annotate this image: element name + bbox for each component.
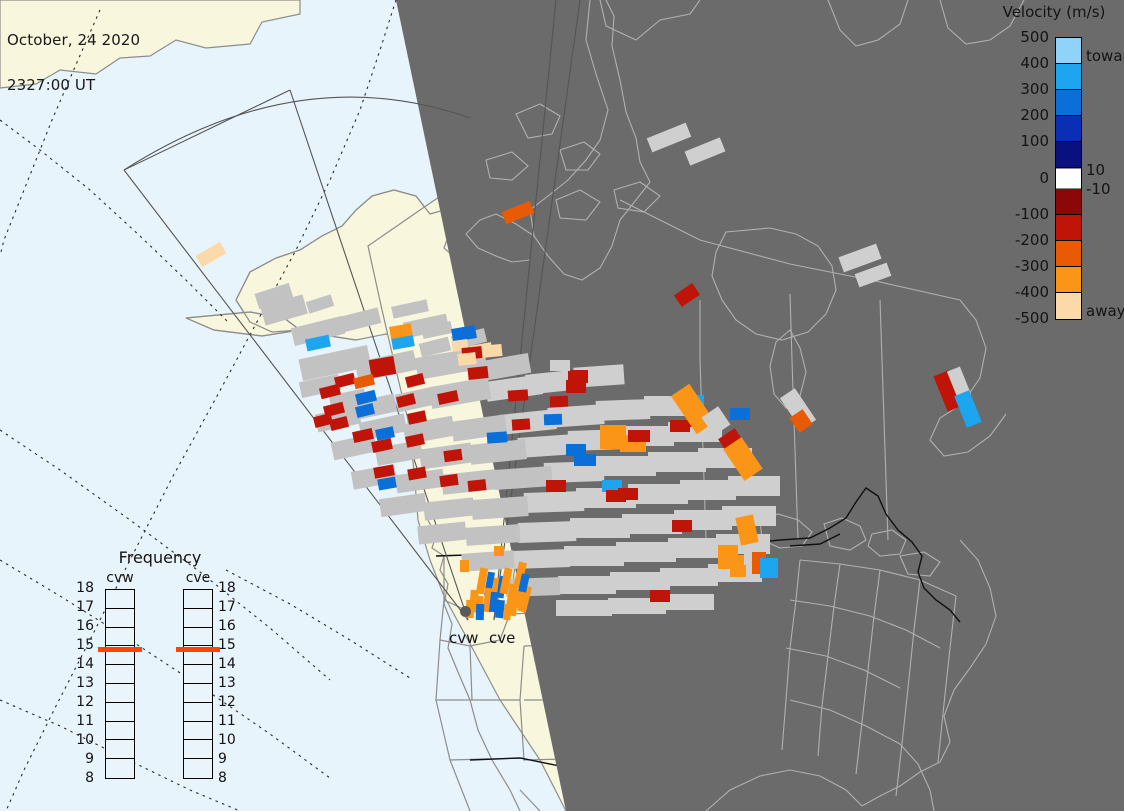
timestamp-block: October, 24 2020 2327:00 UT: [7, 3, 140, 123]
frequency-bar-cve[interactable]: [183, 589, 213, 779]
frequency-bar-cell: [184, 628, 212, 647]
frequency-column-name-cve: cve: [176, 570, 220, 586]
velocity-cell[interactable]: [606, 435, 630, 447]
velocity-cell[interactable]: [618, 488, 638, 500]
frequency-tick-14: 14: [218, 656, 236, 672]
velocity-cell[interactable]: [508, 389, 529, 401]
frequency-bar-cell: [184, 590, 212, 609]
frequency-tick-18: 18: [76, 580, 94, 596]
velocity-cell[interactable]: [574, 454, 596, 466]
ground-scatter-cell[interactable]: [668, 538, 726, 558]
colorbar-lower-threshold-label: -10: [1086, 180, 1111, 198]
frequency-tick-12: 12: [218, 694, 236, 710]
frequency-bar-cell: [106, 684, 134, 703]
velocity-cell[interactable]: [566, 380, 586, 393]
velocity-cell[interactable]: [550, 396, 568, 408]
colorbar-segment--400[interactable]: [1056, 267, 1081, 293]
colorbar-segment-200[interactable]: [1056, 116, 1081, 142]
colorbar-zero-gap: [1056, 168, 1081, 189]
colorbar-segment-300[interactable]: [1056, 90, 1081, 116]
ground-scatter-cell[interactable]: [680, 480, 736, 500]
ground-scatter-cell[interactable]: [524, 491, 585, 513]
ground-scatter-cell[interactable]: [610, 572, 670, 590]
colorbar-tick--200: -200: [1001, 231, 1049, 249]
map-canvas[interactable]: cvw cve: [0, 0, 1124, 811]
frequency-bar-cell: [184, 609, 212, 628]
frequency-tick-10: 10: [218, 732, 236, 748]
velocity-cell[interactable]: [546, 480, 566, 492]
frequency-bar-cell: [106, 759, 134, 778]
frequency-bar-cell: [184, 684, 212, 703]
frequency-tick-17: 17: [218, 599, 236, 615]
colorbar-tick-0: 0: [1001, 169, 1049, 187]
ground-scatter-cell[interactable]: [556, 600, 612, 616]
colorbar-tick-400: 400: [1001, 54, 1049, 72]
velocity-cell[interactable]: [467, 366, 488, 380]
velocity-colorbar[interactable]: [1055, 37, 1082, 320]
frequency-tick-18: 18: [218, 580, 236, 596]
velocity-cell[interactable]: [730, 408, 750, 420]
velocity-cell[interactable]: [672, 520, 692, 532]
colorbar-segment--100[interactable]: [1056, 189, 1081, 215]
velocity-cell[interactable]: [512, 418, 531, 430]
ground-scatter-cell[interactable]: [465, 524, 520, 546]
frequency-bar-cell: [106, 722, 134, 741]
frequency-tick-11: 11: [76, 713, 94, 729]
velocity-cell[interactable]: [457, 352, 476, 366]
ground-scatter-cell[interactable]: [570, 518, 630, 538]
velocity-cell[interactable]: [494, 546, 504, 556]
colorbar-tick-100: 100: [1001, 132, 1049, 150]
superdarn-map-figure: cvw cve October, 24 2020 2327:00 UT Velo…: [0, 0, 1124, 811]
ground-scatter-cell[interactable]: [648, 452, 706, 472]
colorbar-away-label: away: [1086, 302, 1124, 320]
frequency-tick-15: 15: [76, 637, 94, 653]
frequency-tick-16: 16: [76, 618, 94, 634]
velocity-cell[interactable]: [460, 560, 469, 572]
frequency-marker-cve: [176, 647, 220, 652]
frequency-bar-cell: [106, 609, 134, 628]
frequency-tick-15: 15: [218, 637, 236, 653]
frequency-tick-8: 8: [218, 770, 236, 786]
site-label-cve: cve: [489, 629, 515, 647]
frequency-bar-cell: [106, 740, 134, 759]
colorbar-title: Velocity (m/s): [990, 3, 1118, 21]
frequency-bar-cell: [184, 665, 212, 684]
ground-scatter-cell[interactable]: [550, 360, 570, 371]
colorbar-tick-500: 500: [1001, 28, 1049, 46]
frequency-tick-12: 12: [76, 694, 94, 710]
velocity-cell[interactable]: [650, 590, 670, 602]
frequency-legend-title: Frequency: [98, 548, 222, 567]
frequency-tick-14: 14: [76, 656, 94, 672]
radar-site-marker: [460, 606, 471, 617]
frequency-marker-cvw: [98, 647, 142, 652]
frequency-tick-13: 13: [218, 675, 236, 691]
frequency-tick-17: 17: [76, 599, 94, 615]
timestamp-time: 2327:00 UT: [7, 78, 140, 93]
ground-scatter-cell[interactable]: [518, 521, 577, 543]
frequency-bar-cell: [184, 759, 212, 778]
frequency-bar-cvw[interactable]: [105, 589, 135, 779]
ground-scatter-cell[interactable]: [558, 576, 616, 594]
frequency-tick-13: 13: [76, 675, 94, 691]
ground-scatter-cell[interactable]: [616, 542, 676, 562]
colorbar-segment-100[interactable]: [1056, 142, 1081, 168]
velocity-cell[interactable]: [544, 414, 562, 426]
colorbar-upper-threshold-label: 10: [1086, 161, 1105, 179]
velocity-cell[interactable]: [760, 558, 778, 578]
velocity-cell[interactable]: [476, 604, 485, 620]
site-label-cvw: cvw: [449, 629, 478, 647]
ground-scatter-cell[interactable]: [564, 546, 624, 566]
frequency-bar-cell: [184, 722, 212, 741]
velocity-cell[interactable]: [467, 479, 486, 492]
frequency-bar-cell: [106, 703, 134, 722]
colorbar-segment--500[interactable]: [1056, 293, 1081, 319]
frequency-column-name-cvw: cvw: [98, 570, 142, 586]
velocity-cell[interactable]: [670, 420, 690, 432]
velocity-cell[interactable]: [730, 555, 746, 577]
velocity-cell[interactable]: [628, 430, 650, 442]
frequency-tick-9: 9: [218, 751, 236, 767]
map-graphics: [0, 0, 1124, 811]
frequency-tick-16: 16: [218, 618, 236, 634]
velocity-cell[interactable]: [487, 431, 508, 443]
frequency-tick-10: 10: [76, 732, 94, 748]
frequency-bar-cell: [106, 628, 134, 647]
ground-scatter-cell[interactable]: [471, 496, 528, 520]
frequency-bar-cell: [184, 740, 212, 759]
velocity-cell[interactable]: [479, 344, 502, 358]
colorbar-tick-300: 300: [1001, 80, 1049, 98]
colorbar-segment-400[interactable]: [1056, 64, 1081, 90]
frequency-tick-9: 9: [76, 751, 94, 767]
colorbar-toward-label: toward: [1086, 47, 1124, 65]
frequency-tick-11: 11: [218, 713, 236, 729]
frequency-bar-cell: [106, 590, 134, 609]
frequency-bar-cell: [184, 703, 212, 722]
ground-scatter-cell[interactable]: [596, 456, 656, 476]
colorbar-tick--300: -300: [1001, 257, 1049, 275]
colorbar-tick--500: -500: [1001, 309, 1049, 327]
colorbar-segment--200[interactable]: [1056, 215, 1081, 241]
colorbar-tick--400: -400: [1001, 283, 1049, 301]
frequency-bar-cell: [106, 665, 134, 684]
frequency-tick-8: 8: [76, 770, 94, 786]
colorbar-tick--100: -100: [1001, 205, 1049, 223]
timestamp-date: October, 24 2020: [7, 33, 140, 48]
ground-scatter-cell[interactable]: [493, 466, 552, 490]
colorbar-segment--300[interactable]: [1056, 241, 1081, 267]
colorbar-segment-500[interactable]: [1056, 38, 1081, 64]
colorbar-tick-200: 200: [1001, 106, 1049, 124]
